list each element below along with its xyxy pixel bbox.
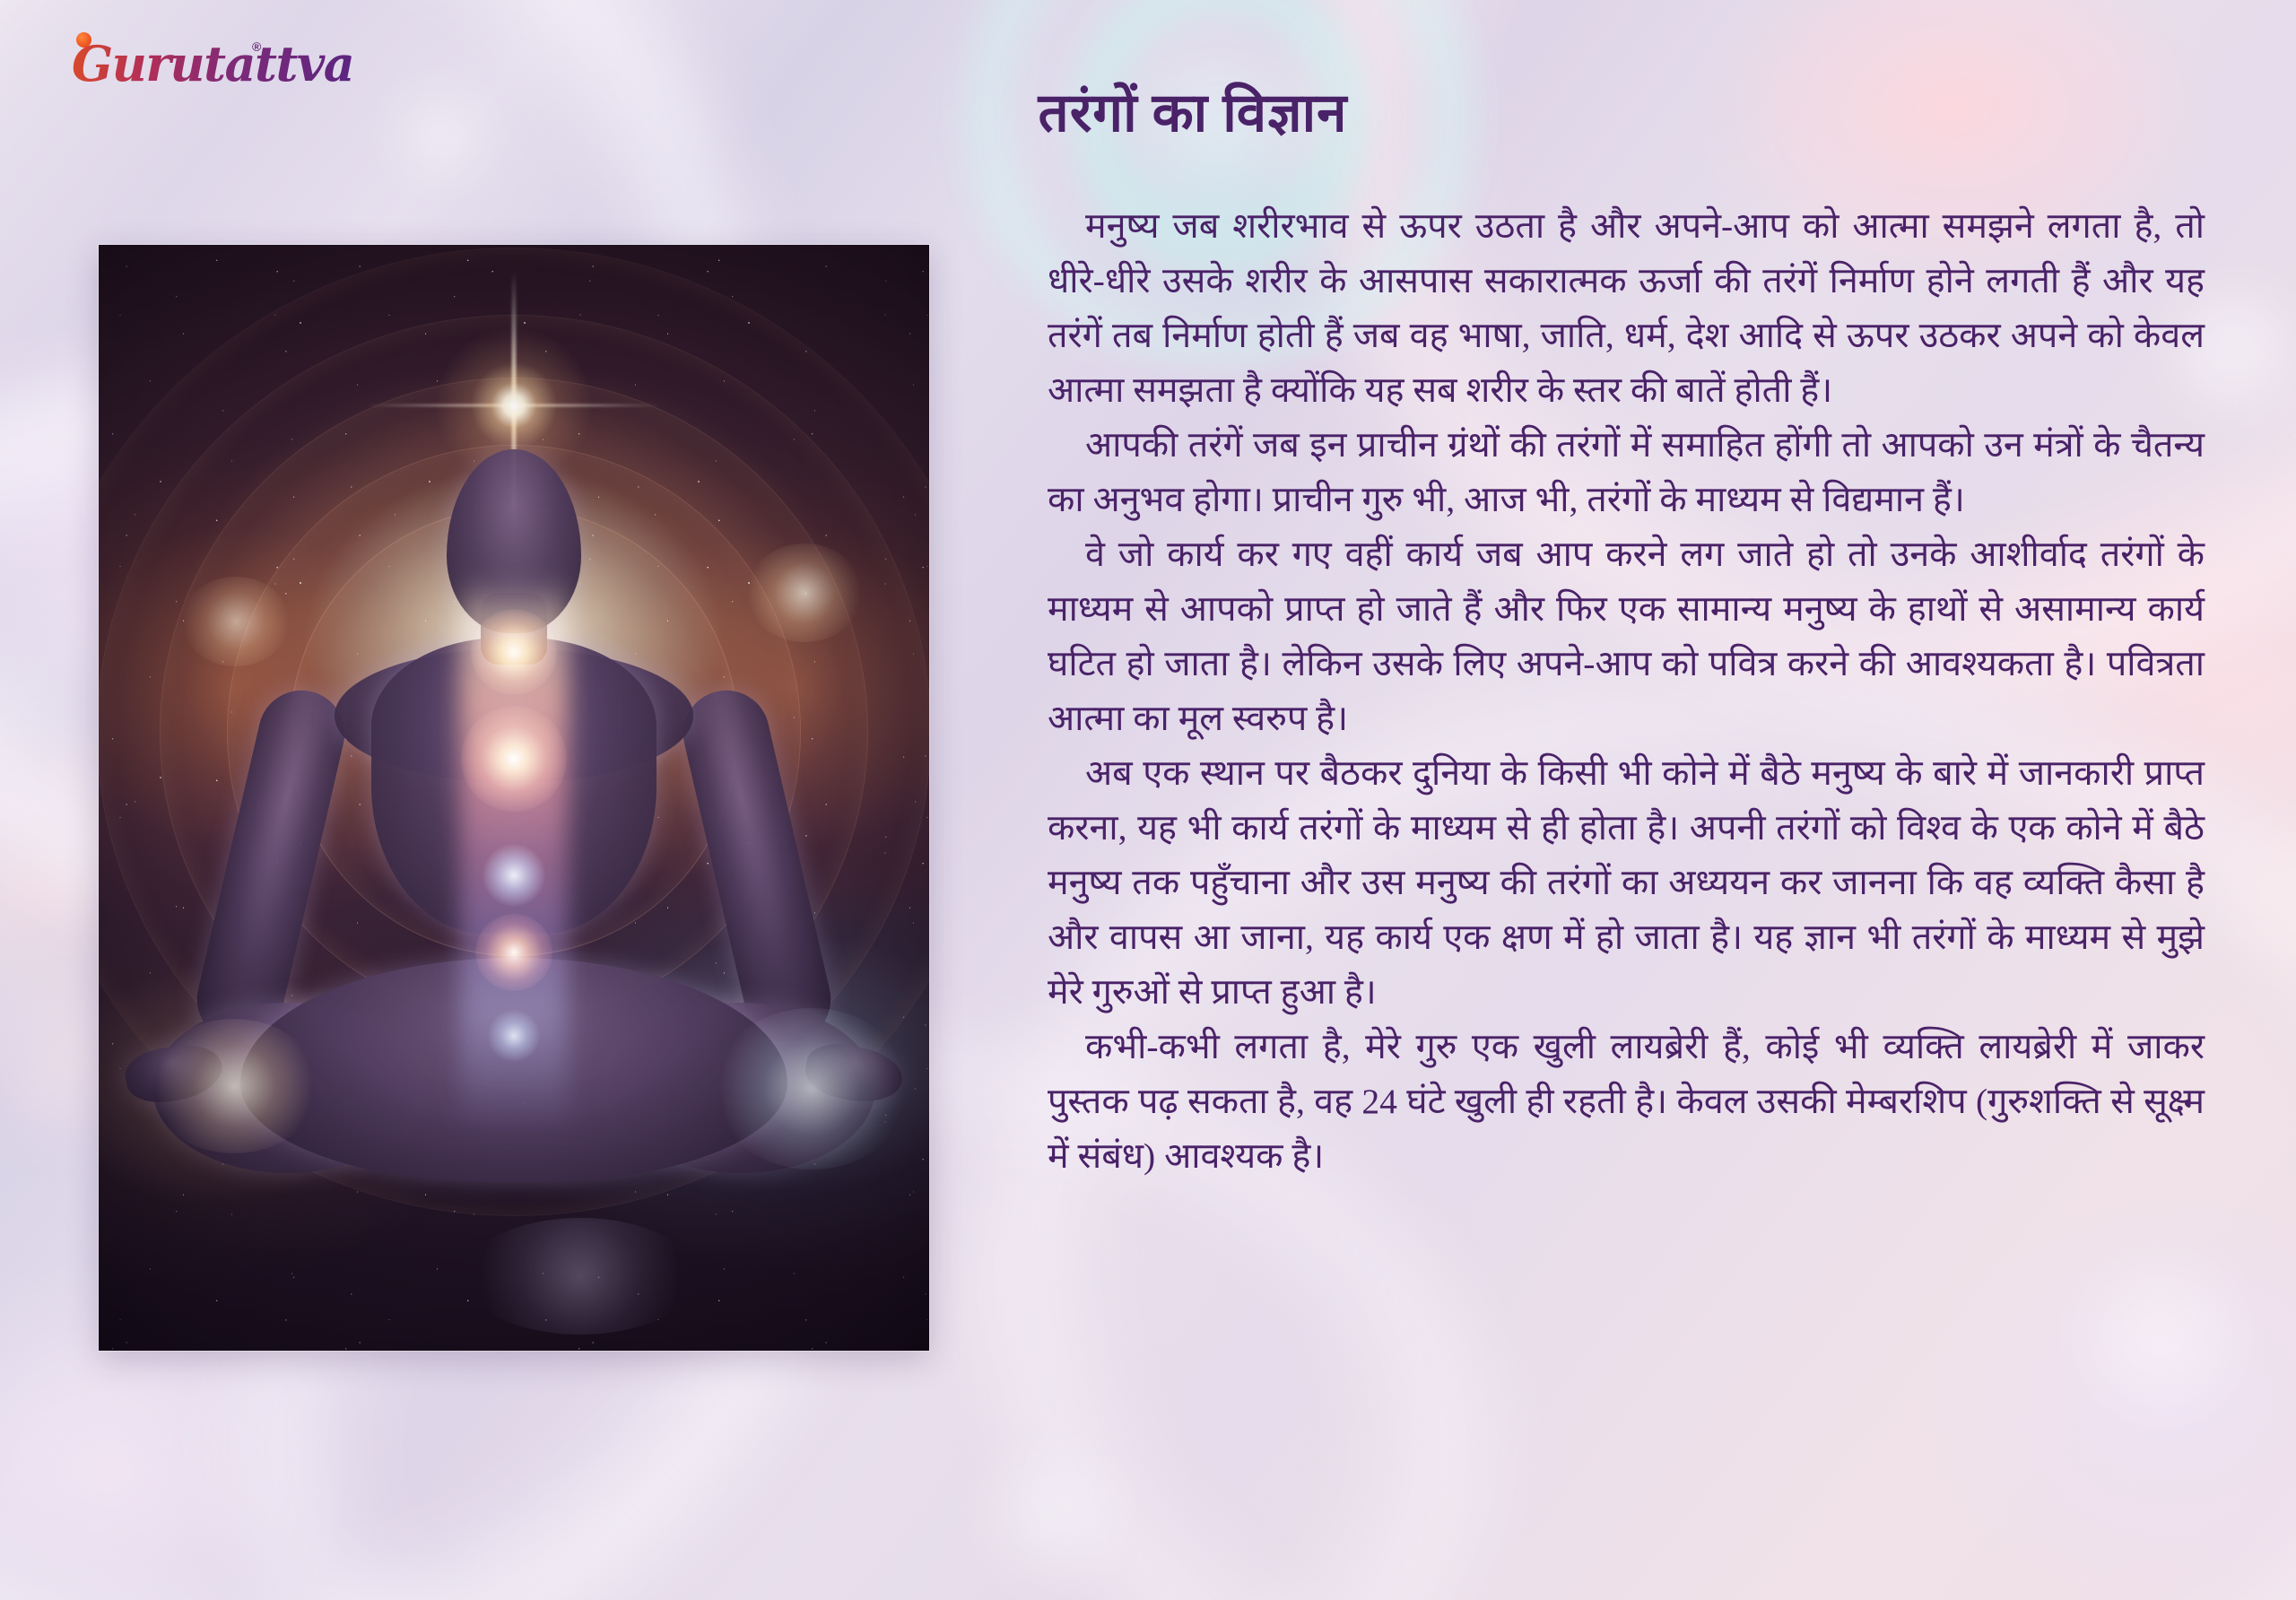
logo-wordmark: Gurutattva	[72, 39, 353, 88]
logo-registered-mark: ®	[252, 39, 261, 54]
page-title: तरंगों का विज्ञान	[924, 83, 1462, 143]
article-paragraph: अब एक स्थान पर बैठकर दुनिया के किसी भी क…	[1048, 746, 2205, 1020]
article-paragraph: आपकी तरंगें जब इन प्राचीन ग्रंथों की तरं…	[1048, 418, 2205, 527]
background-bokeh-5	[386, 81, 493, 188]
brand-logo[interactable]: Gurutattva ®	[56, 23, 343, 100]
cosmic-meditation-artwork	[99, 245, 929, 1351]
background-bokeh-2	[2206, 807, 2296, 987]
article-paragraph: मनुष्य जब शरीरभाव से ऊपर उठता है और अपने…	[1048, 199, 2205, 418]
article-paragraph: कभी-कभी लगता है, मेरे गुरु एक खुली लायब्…	[1048, 1020, 2205, 1184]
page-root: Gurutattva ® तरंगों का विज्ञान	[0, 0, 2296, 1600]
artwork-vignette	[99, 245, 929, 1351]
article-paragraph: वे जो कार्य कर गए वहीं कार्य जब आप करने …	[1048, 527, 2205, 746]
background-bokeh-3	[2063, 1238, 2260, 1435]
background-bokeh-6	[969, 1435, 1130, 1596]
article-body: मनुष्य जब शरीरभाव से ऊपर उठता है और अपने…	[1048, 199, 2205, 1184]
